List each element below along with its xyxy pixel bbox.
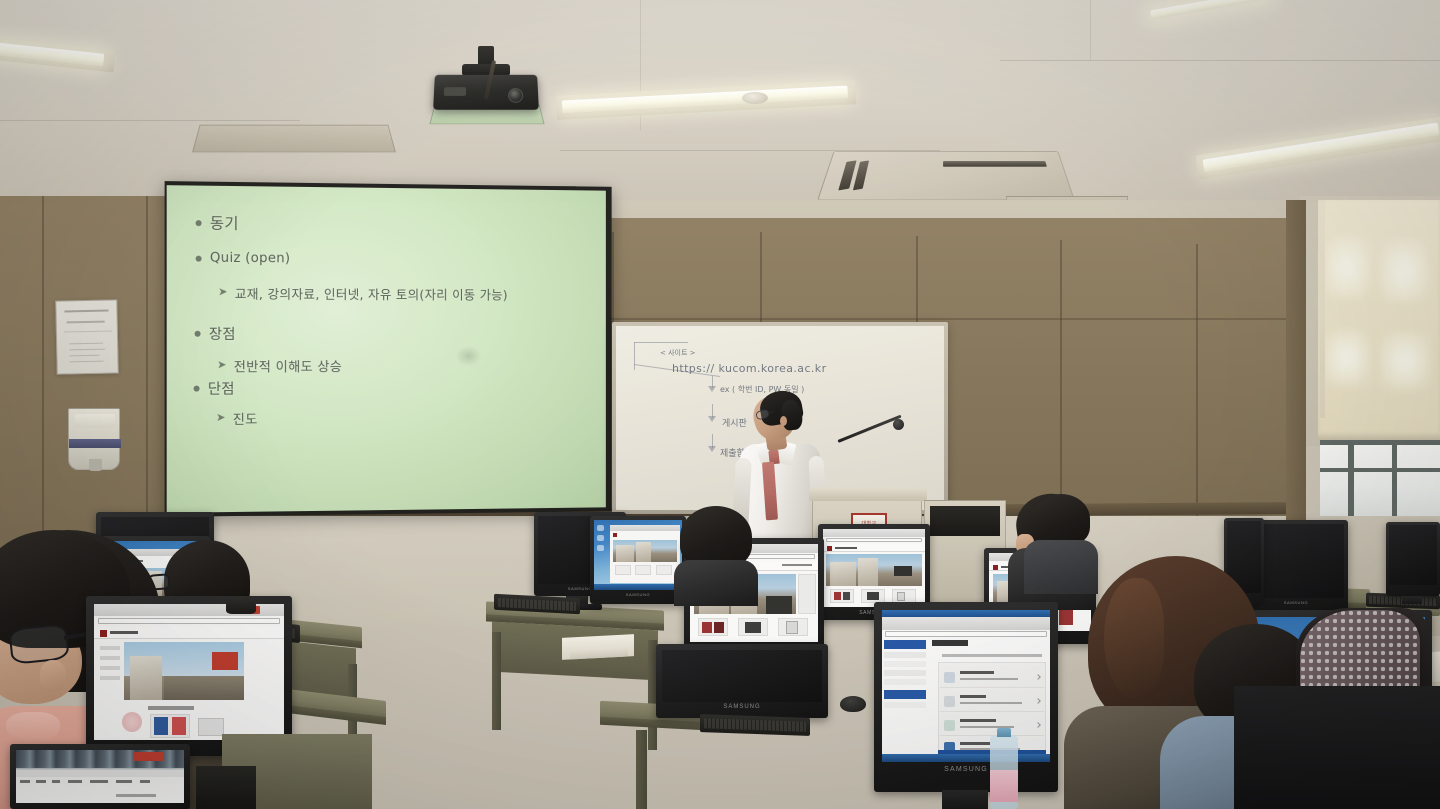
slide-bullet-text: 전반적 이해도 상승 [234,356,342,375]
slide-bullet-text: 장점 [209,324,236,344]
air-conditioner [817,151,1075,200]
blind-cord[interactable] [1320,200,1325,418]
ceiling-seam [0,120,300,121]
monitor-bottom-left [10,744,190,809]
monitor-screen [94,604,284,740]
slide-bullet-3: 장점 [194,324,235,344]
slide-subbullet-1: ➤ 교재, 강의자료, 인터넷, 자유 토의(자리 이동 가능) [218,283,508,303]
mouse[interactable] [840,696,866,712]
bullet-arrow-icon: ➤ [216,413,225,424]
window-mullion [1320,468,1440,472]
slide-bullet-text: 동기 [210,212,239,234]
classroom-photo: 동기 Quiz (open) ➤ 교재, 강의자료, 인터넷, 자유 토의(자리… [0,0,1440,809]
monitor-foreground-left [86,596,292,756]
presenter-ear [780,416,787,426]
podium-top [809,487,927,501]
panel-seam [1196,244,1198,518]
wall-column [1286,200,1306,530]
student-clothing [674,560,758,606]
headphones[interactable] [226,596,256,614]
monitor-stand [1402,596,1422,604]
bottle-label [990,770,1018,802]
window-mullion [1392,440,1397,518]
projection-screen-frame: 동기 Quiz (open) ➤ 교재, 강의자료, 인터넷, 자유 토의(자리… [165,181,612,517]
window-glass [1320,440,1440,518]
student-hair [1030,494,1090,546]
monitor-stand [942,790,988,809]
student-center [670,506,762,602]
projector-lens [508,88,523,103]
slide-bullet-1: 동기 [196,212,239,234]
podium-equipment [930,506,1000,536]
monitor-foreground-center-back: SAMSUNG [656,644,828,718]
water-bottle[interactable] [990,736,1018,809]
window-blind[interactable] [1318,200,1440,436]
slide-bullet-4: 단점 [193,378,234,398]
wall-notice-sheet [55,299,119,374]
bullet-dot-icon [193,386,199,392]
whiteboard-url: https:// kucom.korea.ac.kr [672,362,827,375]
keyboard[interactable] [700,714,810,736]
window-mullion [1348,440,1354,518]
monitor-foreground-center: SAMSUNG [874,602,1058,792]
panel-seam [1060,240,1062,518]
window-frame [1320,440,1440,445]
monitor-brand: SAMSUNG [874,766,1058,773]
hair-highlight [1104,578,1164,698]
monitor-edge [196,766,256,809]
monitor-screen [16,750,184,803]
hand-sanitizer-dispenser[interactable] [68,408,120,470]
bullet-dot-icon [194,331,200,337]
ceiling-detector [742,92,768,104]
ceiling-seam [1090,0,1091,60]
panel-seam [600,318,1300,320]
student-ear [40,660,66,692]
monitor-back-right-2 [1386,522,1440,596]
monitor-screen [823,529,925,607]
bullet-dot-icon [196,255,202,261]
whiteboard-text: < 사이트 > [660,348,696,358]
bottle-cap [997,728,1011,737]
desk-leg [636,730,647,809]
bullet-dot-icon [196,220,202,226]
student-hair [680,506,752,568]
monitor-screen [882,610,1050,762]
slide-bullet-text: 진도 [233,409,258,428]
bullet-arrow-icon: ➤ [217,360,226,371]
collar-highlight [6,712,60,742]
ceiling-seam [1000,60,1440,61]
slide-bullet-text: Quiz (open) [210,251,290,267]
monitor-foreground-right [1234,686,1440,809]
slide-subbullet-3: ➤ 진도 [216,409,258,428]
projection-screen: 동기 Quiz (open) ➤ 교재, 강의자료, 인터넷, 자유 토의(자리… [167,185,606,513]
slide-subbullet-2: ➤ 전반적 이해도 상승 [217,356,342,375]
monitor-screen [594,520,682,590]
bullet-arrow-icon: ➤ [218,287,227,298]
ceiling-vent-panel [192,125,396,153]
slide-bullet-text: 단점 [208,378,235,398]
slide-bullet-2: Quiz (open) [196,251,291,267]
monitor-brand: SAMSUNG [656,704,828,710]
desk-leg [492,632,501,730]
microphone-head [893,419,904,430]
slide-bullet-text: 교재, 강의자료, 인터넷, 자유 토의(자리 이동 가능) [235,283,508,303]
